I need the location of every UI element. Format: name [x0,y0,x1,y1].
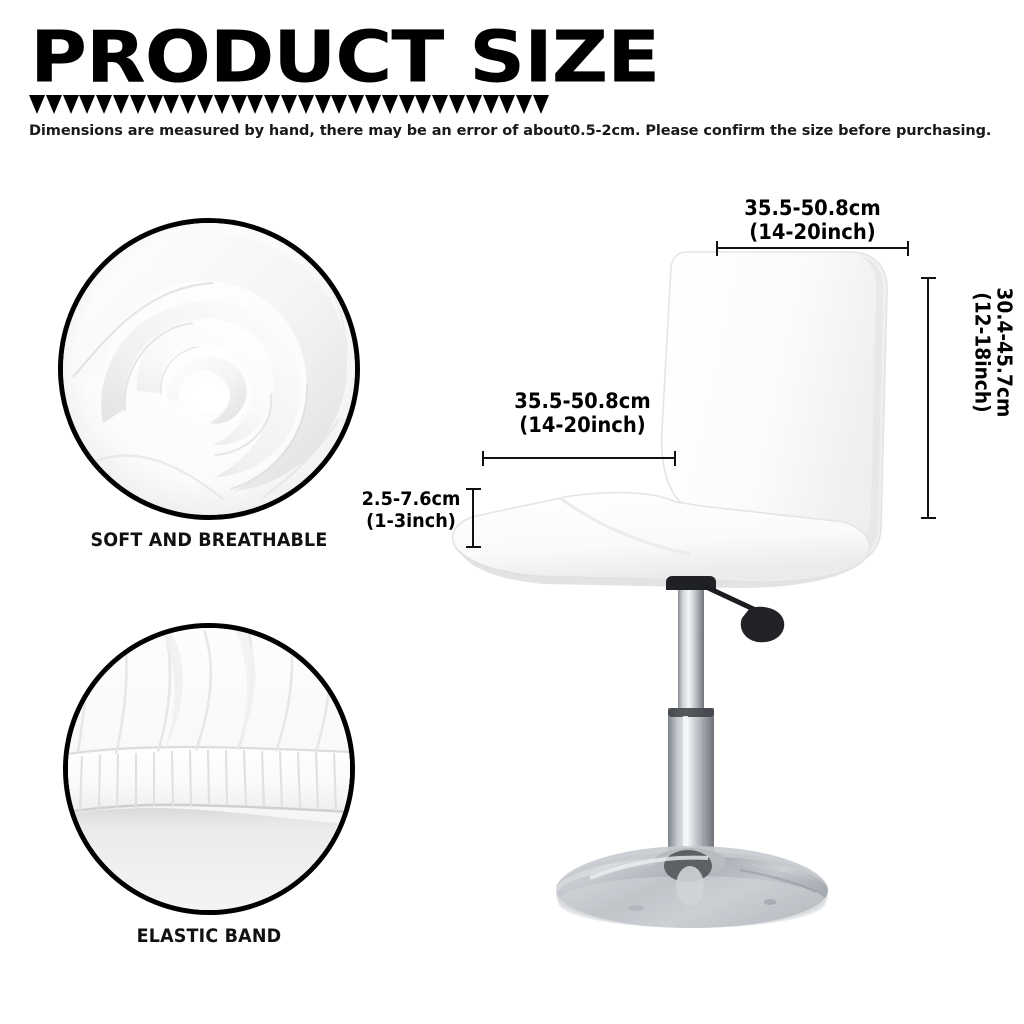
triangle-marker-icon [96,95,112,114]
triangle-marker-icon [415,95,431,114]
dimension-rule [716,247,909,249]
triangle-marker-icon [533,95,549,114]
triangle-marker-icon [281,95,297,114]
dimension-line-backrest-width [716,241,909,255]
triangle-marker-icon [516,95,532,114]
triangle-marker-icon [214,95,230,114]
triangle-marker-icon [147,95,163,114]
triangle-marker-icon [264,95,280,114]
dimension-value-inch: (1-3inch) [359,510,463,532]
triangle-marker-icon [231,95,247,114]
triangle-marker-icon [130,95,146,114]
dimension-value-cm: 30.4-45.7cm [993,278,1015,427]
triangle-marker-icon [113,95,129,114]
triangle-marker-icon [79,95,95,114]
triangle-marker-icon [315,95,331,114]
dimension-label-seat-depth: 35.5-50.8cm (14-20inch) [469,389,697,438]
dimension-line-seat-depth [482,451,676,465]
dimension-label-backrest-height: 30.4-45.7cm (12-18inch) [971,278,1016,427]
dimension-cap-bottom [921,517,936,519]
measurement-disclaimer: Dimensions are measured by hand, there m… [29,123,991,139]
triangle-marker-icon [331,95,347,114]
triangle-marker-icon [29,95,45,114]
dimension-value-cm: 35.5-50.8cm [469,389,697,413]
product-image-chair [440,230,940,930]
dimension-rule [472,488,474,548]
product-size-infographic: PRODUCT SIZE Dimensions are measured by … [0,0,1024,1024]
feature-image-elastic-band [63,623,355,915]
dimension-label-seat-thickness: 2.5-7.6cm (1-3inch) [359,488,463,532]
elastic-hem-icon [68,628,350,910]
dimension-line-backrest-height [921,277,935,519]
dimension-label-backrest-width: 35.5-50.8cm (14-20inch) [689,196,935,245]
dimension-cap-right [907,241,909,256]
page-title: PRODUCT SIZE [30,22,659,93]
swivel-chair-icon [440,230,940,930]
triangle-marker-icon [399,95,415,114]
triangle-marker-icon [382,95,398,114]
triangle-marker-icon [432,95,448,114]
dimension-rule [927,277,929,519]
dimension-value-inch: (14-20inch) [469,413,697,437]
triangle-marker-icon [298,95,314,114]
triangle-marker-icon [63,95,79,114]
feature-caption-elastic-band: ELASTIC BAND [75,925,344,947]
triangle-marker-icon [180,95,196,114]
dimension-cap-right [674,451,676,466]
triangle-marker-icon [348,95,364,114]
triangle-marker-icon [449,95,465,114]
triangle-marker-icon [46,95,62,114]
triangle-marker-icon [365,95,381,114]
dimension-cap-bottom [466,546,481,548]
dimension-value-cm: 35.5-50.8cm [689,196,935,220]
triangle-marker-icon [163,95,179,114]
triangle-marker-icon [247,95,263,114]
triangle-divider [29,95,549,115]
triangle-marker-icon [197,95,213,114]
triangle-marker-icon [483,95,499,114]
triangle-marker-icon [499,95,515,114]
feature-image-soft-breathable [58,218,360,520]
dimension-line-seat-thickness [466,488,480,548]
triangle-marker-icon [466,95,482,114]
feature-caption-soft-breathable: SOFT AND BREATHABLE [70,529,348,551]
dimension-value-inch: (12-18inch) [971,278,993,427]
dimension-rule [482,457,676,459]
fabric-swirl-icon [63,223,355,515]
dimension-value-cm: 2.5-7.6cm [359,488,463,510]
